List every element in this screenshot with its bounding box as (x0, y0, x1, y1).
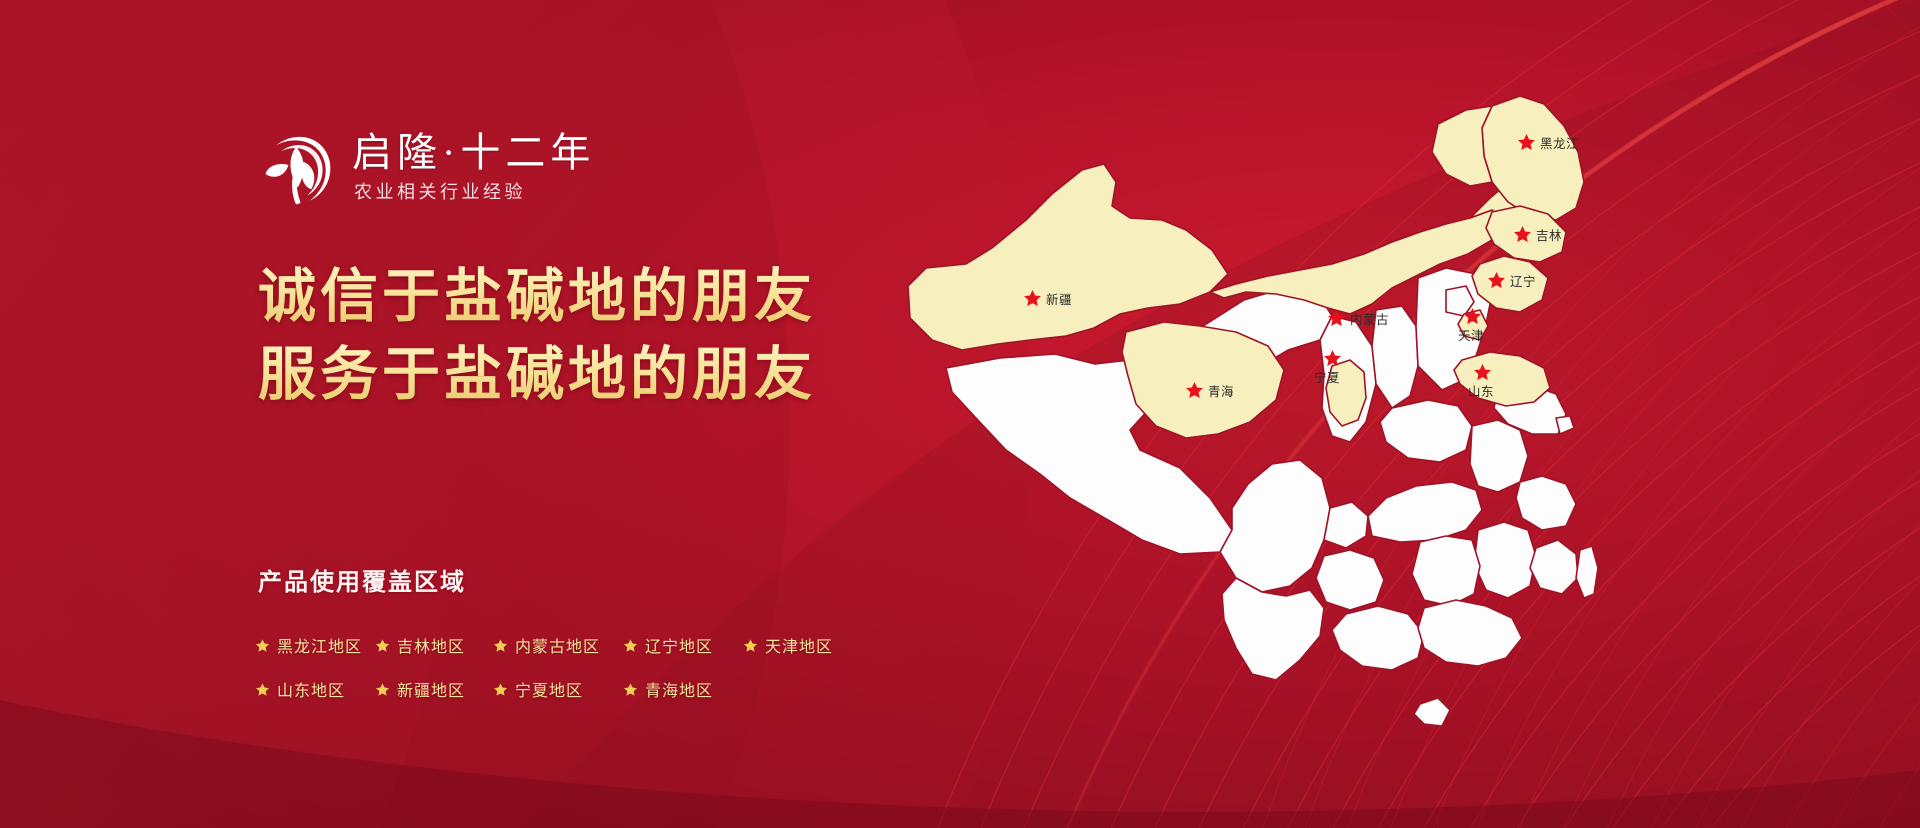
map-label-heilongjiang: 黑龙江 (1540, 137, 1579, 151)
province-taiwan (1576, 546, 1598, 598)
china-coverage-map: 黑龙江 吉林 辽宁 内蒙古 天津 山东 宁夏 新疆 青海 (880, 78, 1620, 798)
province-henan (1380, 400, 1472, 462)
star-icon (624, 683, 637, 696)
star-icon (624, 639, 637, 652)
map-label-liaoning: 辽宁 (1510, 274, 1536, 289)
province-chongqing (1324, 502, 1368, 548)
province-shanghai (1556, 416, 1574, 434)
list-item-label: 内蒙古地区 (515, 633, 600, 657)
province-fujian (1530, 540, 1578, 594)
list-item: 吉林地区 (376, 633, 494, 657)
brand-logo: 启隆·十二年 农业相关行业经验 (258, 128, 595, 208)
star-icon (744, 639, 757, 652)
map-label-shandong: 山东 (1468, 385, 1494, 399)
map-label-qinghai: 青海 (1208, 384, 1234, 399)
list-item: 黑龙江地区 (256, 633, 376, 657)
star-icon (376, 683, 389, 696)
list-item: 辽宁地区 (624, 633, 744, 657)
province-hainan (1414, 698, 1450, 726)
page-title: 诚信于盐碱地的朋友 服务于盐碱地的朋友 (258, 258, 816, 414)
list-item: 天津地区 (744, 633, 833, 657)
china-map-svg: 黑龙江 吉林 辽宁 内蒙古 天津 山东 宁夏 新疆 青海 (880, 78, 1620, 798)
list-item-label: 天津地区 (765, 633, 833, 657)
province-xinjiang (908, 164, 1228, 350)
coverage-section-title: 产品使用覆盖区域 (258, 562, 466, 597)
leaf-sprout-circle-icon (258, 128, 334, 208)
list-item: 山东地区 (256, 677, 376, 701)
list-item: 宁夏地区 (494, 677, 624, 701)
list-item-label: 吉林地区 (397, 633, 465, 657)
province-hubei (1368, 482, 1482, 542)
star-icon (376, 639, 389, 652)
list-item-label: 宁夏地区 (515, 677, 583, 701)
list-item-label: 新疆地区 (397, 677, 465, 701)
province-guizhou (1316, 550, 1384, 610)
star-icon (256, 683, 269, 696)
province-yunnan (1222, 578, 1324, 680)
brand-subtitle: 农业相关行业经验 (354, 182, 595, 204)
promo-banner: 启隆·十二年 农业相关行业经验 诚信于盐碱地的朋友 服务于盐碱地的朋友 产品使用… (0, 0, 1920, 828)
province-zhejiang (1516, 476, 1576, 530)
headline-line-2: 服务于盐碱地的朋友 (258, 336, 816, 414)
headline-line-1: 诚信于盐碱地的朋友 (258, 258, 816, 336)
list-item: 青海地区 (624, 677, 713, 701)
list-item-label: 山东地区 (277, 677, 345, 701)
list-item: 新疆地区 (376, 677, 494, 701)
map-label-ningxia: 宁夏 (1314, 370, 1340, 385)
province-guangdong (1418, 600, 1522, 666)
map-label-jilin: 吉林 (1536, 229, 1562, 243)
province-jiangxi (1474, 522, 1536, 598)
province-anhui (1470, 420, 1528, 492)
list-item: 内蒙古地区 (494, 633, 624, 657)
province-sichuan (1220, 460, 1330, 592)
brand-title: 启隆·十二年 (352, 132, 595, 174)
coverage-row: 山东地区 新疆地区 宁夏地区 (256, 672, 833, 706)
province-heilongjiang-west (1432, 106, 1492, 186)
list-item-label: 辽宁地区 (645, 633, 713, 657)
left-content-column: 启隆·十二年 农业相关行业经验 诚信于盐碱地的朋友 服务于盐碱地的朋友 产品使用… (0, 0, 860, 828)
list-item-label: 青海地区 (645, 677, 713, 701)
list-item-label: 黑龙江地区 (277, 633, 362, 657)
province-hunan (1412, 536, 1480, 606)
star-icon (494, 639, 507, 652)
coverage-row: 黑龙江地区 吉林地区 内蒙古地区 (256, 628, 833, 662)
map-label-tianjin: 天津 (1458, 329, 1484, 343)
star-icon (256, 639, 269, 652)
map-label-inner-mongolia: 内蒙古 (1350, 312, 1389, 327)
coverage-region-list: 黑龙江地区 吉林地区 内蒙古地区 (256, 628, 833, 706)
province-guangxi (1332, 606, 1424, 670)
star-icon (494, 683, 507, 696)
map-label-xinjiang: 新疆 (1046, 292, 1072, 307)
